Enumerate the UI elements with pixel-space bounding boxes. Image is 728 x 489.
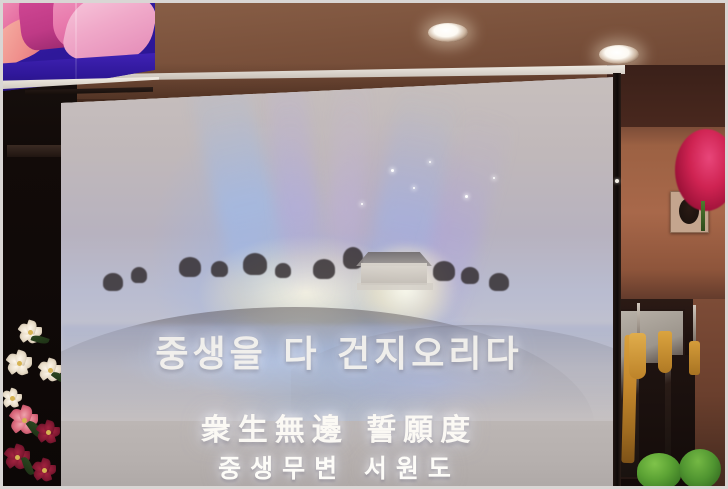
- flower-center-icon: [15, 455, 20, 460]
- flower-center-icon: [22, 418, 27, 423]
- gold-tassel-head-right: [689, 341, 700, 375]
- banner-fold-crease: [75, 3, 77, 91]
- photograph: 중생을 다 건지오리다 衆生無邊 誓願度 중생무변 서원도: [0, 0, 728, 489]
- flower-6: [37, 421, 59, 443]
- tree-2: [131, 267, 147, 283]
- gold-tassel-head-left: [629, 333, 646, 379]
- flower-center-icon: [17, 361, 22, 366]
- tree-9: [433, 261, 455, 281]
- flower-8: [33, 459, 55, 481]
- tree-3: [179, 257, 201, 277]
- gold-tassel-head-middle: [658, 331, 672, 373]
- flower-center-icon: [42, 468, 47, 473]
- green-lotus-ornament-right: [679, 449, 721, 489]
- flower-center-icon: [28, 330, 33, 335]
- flower-center-icon: [10, 396, 15, 401]
- projection-screen[interactable]: 중생을 다 건지오리다 衆生無邊 誓願度 중생무변 서원도: [61, 77, 617, 489]
- tree-4: [211, 261, 228, 277]
- slide-text-korean-reading: 중생무변 서원도: [61, 449, 617, 485]
- leaf-1: [30, 334, 49, 347]
- tree-1: [103, 273, 123, 291]
- pink-lotus-lantern: [675, 129, 728, 211]
- screen-support-post: [613, 73, 621, 489]
- green-lotus-ornament-left: [637, 453, 681, 489]
- right-wall-upper-shadow: [607, 65, 728, 127]
- tree-6: [275, 263, 291, 278]
- tree-11: [489, 273, 509, 291]
- slide-text-korean-main: 중생을 다 건지오리다: [61, 325, 617, 377]
- lantern-stem: [701, 201, 705, 231]
- flower-center-icon: [46, 430, 51, 435]
- slide-text-hanja: 衆生無邊 誓願度: [61, 405, 617, 449]
- tree-10: [461, 267, 479, 284]
- temple-base: [357, 283, 433, 290]
- temple-building: [361, 263, 427, 285]
- tree-5: [243, 253, 267, 275]
- ceiling-downlight-left-icon: [428, 23, 468, 42]
- treeline: [61, 77, 617, 337]
- screen-post-highlight: [615, 179, 619, 183]
- flower-2: [7, 351, 31, 375]
- ceiling-downlight-right-icon: [599, 45, 639, 64]
- flower-4: [3, 389, 21, 407]
- tree-7: [313, 259, 335, 279]
